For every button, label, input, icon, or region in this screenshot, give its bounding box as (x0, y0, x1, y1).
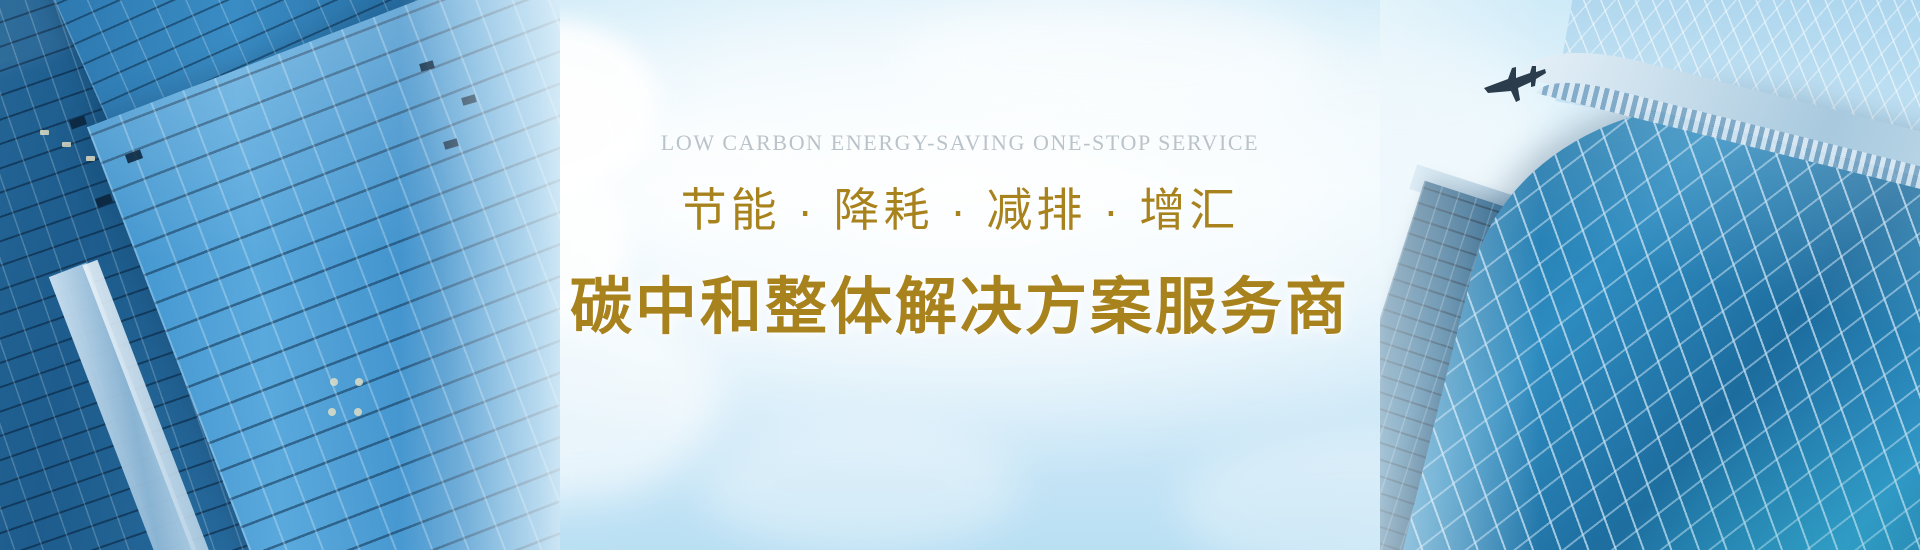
building-lit-window (40, 130, 49, 135)
building-lit-window (328, 408, 336, 416)
cloud (700, 420, 1020, 550)
building-lit-window (86, 156, 95, 161)
building-lit-window (355, 378, 363, 386)
left-buildings (0, 0, 560, 550)
building-lit-window (354, 408, 362, 416)
right-buildings (1380, 0, 1920, 550)
building-lit-window (62, 142, 71, 147)
airplane-icon (1478, 62, 1548, 108)
banner-subhead: 节能 · 降耗 · 减排 · 增汇 (681, 174, 1240, 240)
building-lit-window (330, 378, 338, 386)
hero-banner: LOW CARBON ENERGY-SAVING ONE-STOP SERVIC… (0, 0, 1920, 550)
banner-eyebrow: LOW CARBON ENERGY-SAVING ONE-STOP SERVIC… (661, 130, 1259, 156)
banner-headline: 碳中和整体解决方案服务商 (570, 256, 1350, 346)
